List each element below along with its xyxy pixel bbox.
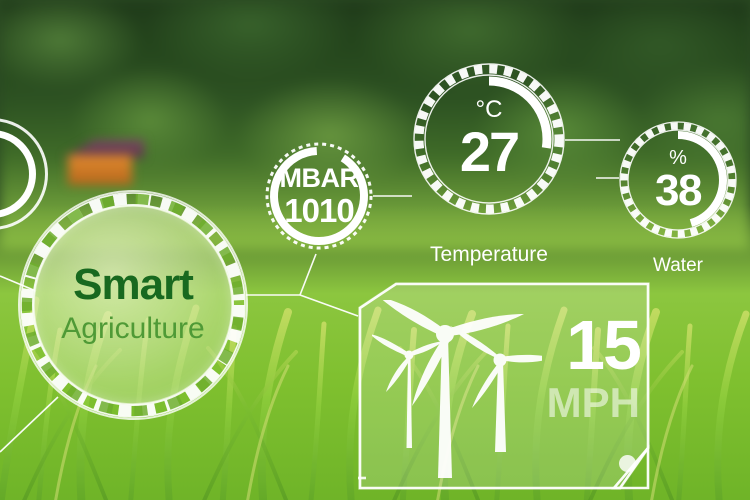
wind-speed-value: 15 xyxy=(547,312,640,379)
temperature-value: 27 xyxy=(460,124,518,180)
water-value: 38 xyxy=(655,169,701,213)
wind-speed-unit: MPH xyxy=(547,383,640,423)
pressure-value: 1010 xyxy=(284,194,353,227)
wind-panel[interactable]: 15 MPH xyxy=(358,282,650,490)
temperature-caption: Temperature xyxy=(413,243,565,267)
smart-badge-title: Smart xyxy=(73,263,193,307)
gauge-pressure[interactable]: MBAR 1010 xyxy=(265,142,373,250)
water-unit-label: % xyxy=(669,148,687,168)
gauge-water[interactable]: % 38 xyxy=(619,121,737,239)
wind-readout: 15 MPH xyxy=(547,312,640,422)
wind-turbine-icon xyxy=(372,300,542,480)
smart-badge-subtitle: Agriculture xyxy=(61,311,204,347)
pressure-unit-label: MBAR xyxy=(280,165,359,192)
smart-badge-labels: Smart Agriculture xyxy=(32,204,234,406)
temperature-unit-label: °C xyxy=(476,98,503,122)
water-readout: % 38 xyxy=(619,121,737,239)
smart-agriculture-badge[interactable]: Smart Agriculture xyxy=(18,190,248,420)
water-caption: Water xyxy=(619,255,737,277)
smart-agriculture-dashboard: Smart Agriculture MBAR 1010 °C 27 Temper… xyxy=(0,0,750,500)
pressure-gauge-readout: MBAR 1010 xyxy=(265,142,373,250)
status-dot[interactable] xyxy=(619,455,636,472)
farm-house xyxy=(52,140,144,184)
temperature-readout: °C 27 xyxy=(413,63,565,215)
gauge-temperature[interactable]: °C 27 xyxy=(413,63,565,215)
